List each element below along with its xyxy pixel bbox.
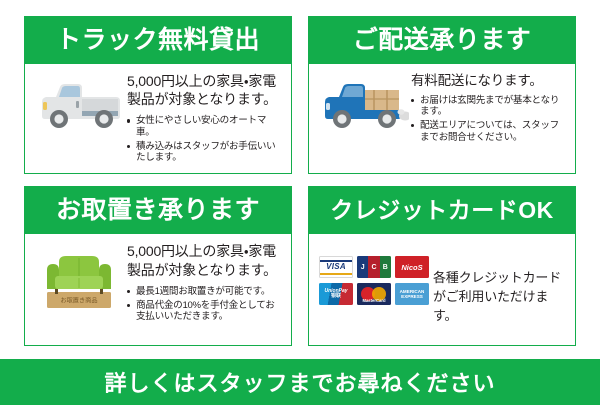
panel-copy-credit-card: 各種クレジットカードがご利用いただけます。 — [433, 242, 569, 339]
svg-text:お取置き商品: お取置き商品 — [60, 297, 97, 305]
green-sofa-icon: お取置き商品 — [31, 242, 127, 310]
amex-card-icon: AMERICAN EXPRESS — [395, 283, 429, 305]
jcb-letter-j: J — [357, 256, 368, 278]
list-item: 女性にやさしい安心のオートマ車。 — [127, 115, 283, 138]
panel-copy-truck-rental: 5,000円以上の家具・家電製品が対象となります。 女性にやさしい安心のオートマ… — [127, 72, 285, 166]
jcb-card-icon: J C B — [357, 256, 391, 278]
panel-layaway: お取置き承ります お取置き商品 — [24, 186, 292, 346]
panel-body-credit-card: VISA J C B NicoS UnionPay 银联 — [308, 234, 576, 346]
panel-bullets-truck-rental: 女性にやさしい安心のオートマ車。 積み込みはスタッフがお手伝いいたします。 — [127, 115, 283, 164]
credit-card-logos: VISA J C B NicoS UnionPay 银联 — [315, 242, 433, 305]
panel-copy-delivery: 有料配送になります。 お届けは玄関先までが基本となります。 配送エリアについては… — [411, 72, 569, 145]
panel-lead-delivery: 有料配送になります。 — [411, 72, 567, 90]
mastercard-card-icon: MasterCard — [357, 283, 391, 305]
panel-truck-rental: トラック無料貸出 — [24, 16, 292, 174]
jcb-letter-c: C — [368, 256, 379, 278]
panel-bullets-delivery: お届けは玄関先までが基本となります。 配送エリアについては、スタッフまでお問合せ… — [411, 95, 567, 144]
panel-title-delivery: ご配送承ります — [308, 16, 576, 64]
panel-grid: トラック無料貸出 — [24, 16, 576, 346]
panel-body-delivery: 有料配送になります。 お届けは玄関先までが基本となります。 配送エリアについては… — [308, 64, 576, 174]
list-item: 最長1週間お取置きが可能です。 — [127, 286, 283, 298]
panel-body-layaway: お取置き商品 5,000円以上の家具・家電製品が対象となります。 最 — [24, 234, 292, 346]
visa-label: VISA — [326, 263, 346, 271]
panel-credit-card: クレジットカードOK VISA J C B N — [308, 186, 576, 346]
card-logo-grid: VISA J C B NicoS UnionPay 银联 — [319, 256, 429, 305]
panel-text-credit-card: 各種クレジットカードがご利用いただけます。 — [433, 255, 567, 326]
nicos-card-icon: NicoS — [395, 256, 429, 278]
panel-title-truck-rental: トラック無料貸出 — [24, 16, 292, 64]
mastercard-label: MasterCard — [357, 298, 391, 303]
panel-body-truck-rental: 5,000円以上の家具・家電製品が対象となります。 女性にやさしい安心のオートマ… — [24, 64, 292, 174]
white-kei-truck-icon — [31, 72, 127, 136]
unionpay-sub-label: 银联 — [331, 294, 341, 300]
panel-delivery: ご配送承ります — [308, 16, 576, 174]
panel-bullets-layaway: 最長1週間お取置きが可能です。 商品代金の10%を手付金としてお支払いいただきま… — [127, 286, 283, 323]
jcb-letter-b: B — [380, 256, 391, 278]
blue-delivery-truck-icon — [315, 72, 411, 136]
footer-banner: 詳しくはスタッフまでお尋ねください — [0, 359, 600, 405]
list-item: 商品代金の10%を手付金としてお支払いいただきます。 — [127, 300, 283, 323]
panel-title-credit-card: クレジットカードOK — [308, 186, 576, 234]
panel-title-layaway: お取置き承ります — [24, 186, 292, 234]
service-info-poster: トラック無料貸出 — [0, 0, 600, 405]
footer-text: 詳しくはスタッフまでお尋ねください — [104, 366, 495, 398]
panel-lead-layaway: 5,000円以上の家具・家電製品が対象となります。 — [127, 242, 283, 278]
list-item: 配送エリアについては、スタッフまでお問合せください。 — [411, 120, 567, 143]
list-item: 積み込みはスタッフがお手伝いいたします。 — [127, 141, 283, 164]
unionpay-card-icon: UnionPay 银联 — [319, 283, 353, 305]
visa-card-icon: VISA — [319, 256, 353, 278]
panel-lead-truck-rental: 5,000円以上の家具・家電製品が対象となります。 — [127, 72, 283, 108]
panel-copy-layaway: 5,000円以上の家具・家電製品が対象となります。 最長1週間お取置きが可能です… — [127, 242, 285, 324]
list-item: お届けは玄関先までが基本となります。 — [411, 95, 567, 118]
